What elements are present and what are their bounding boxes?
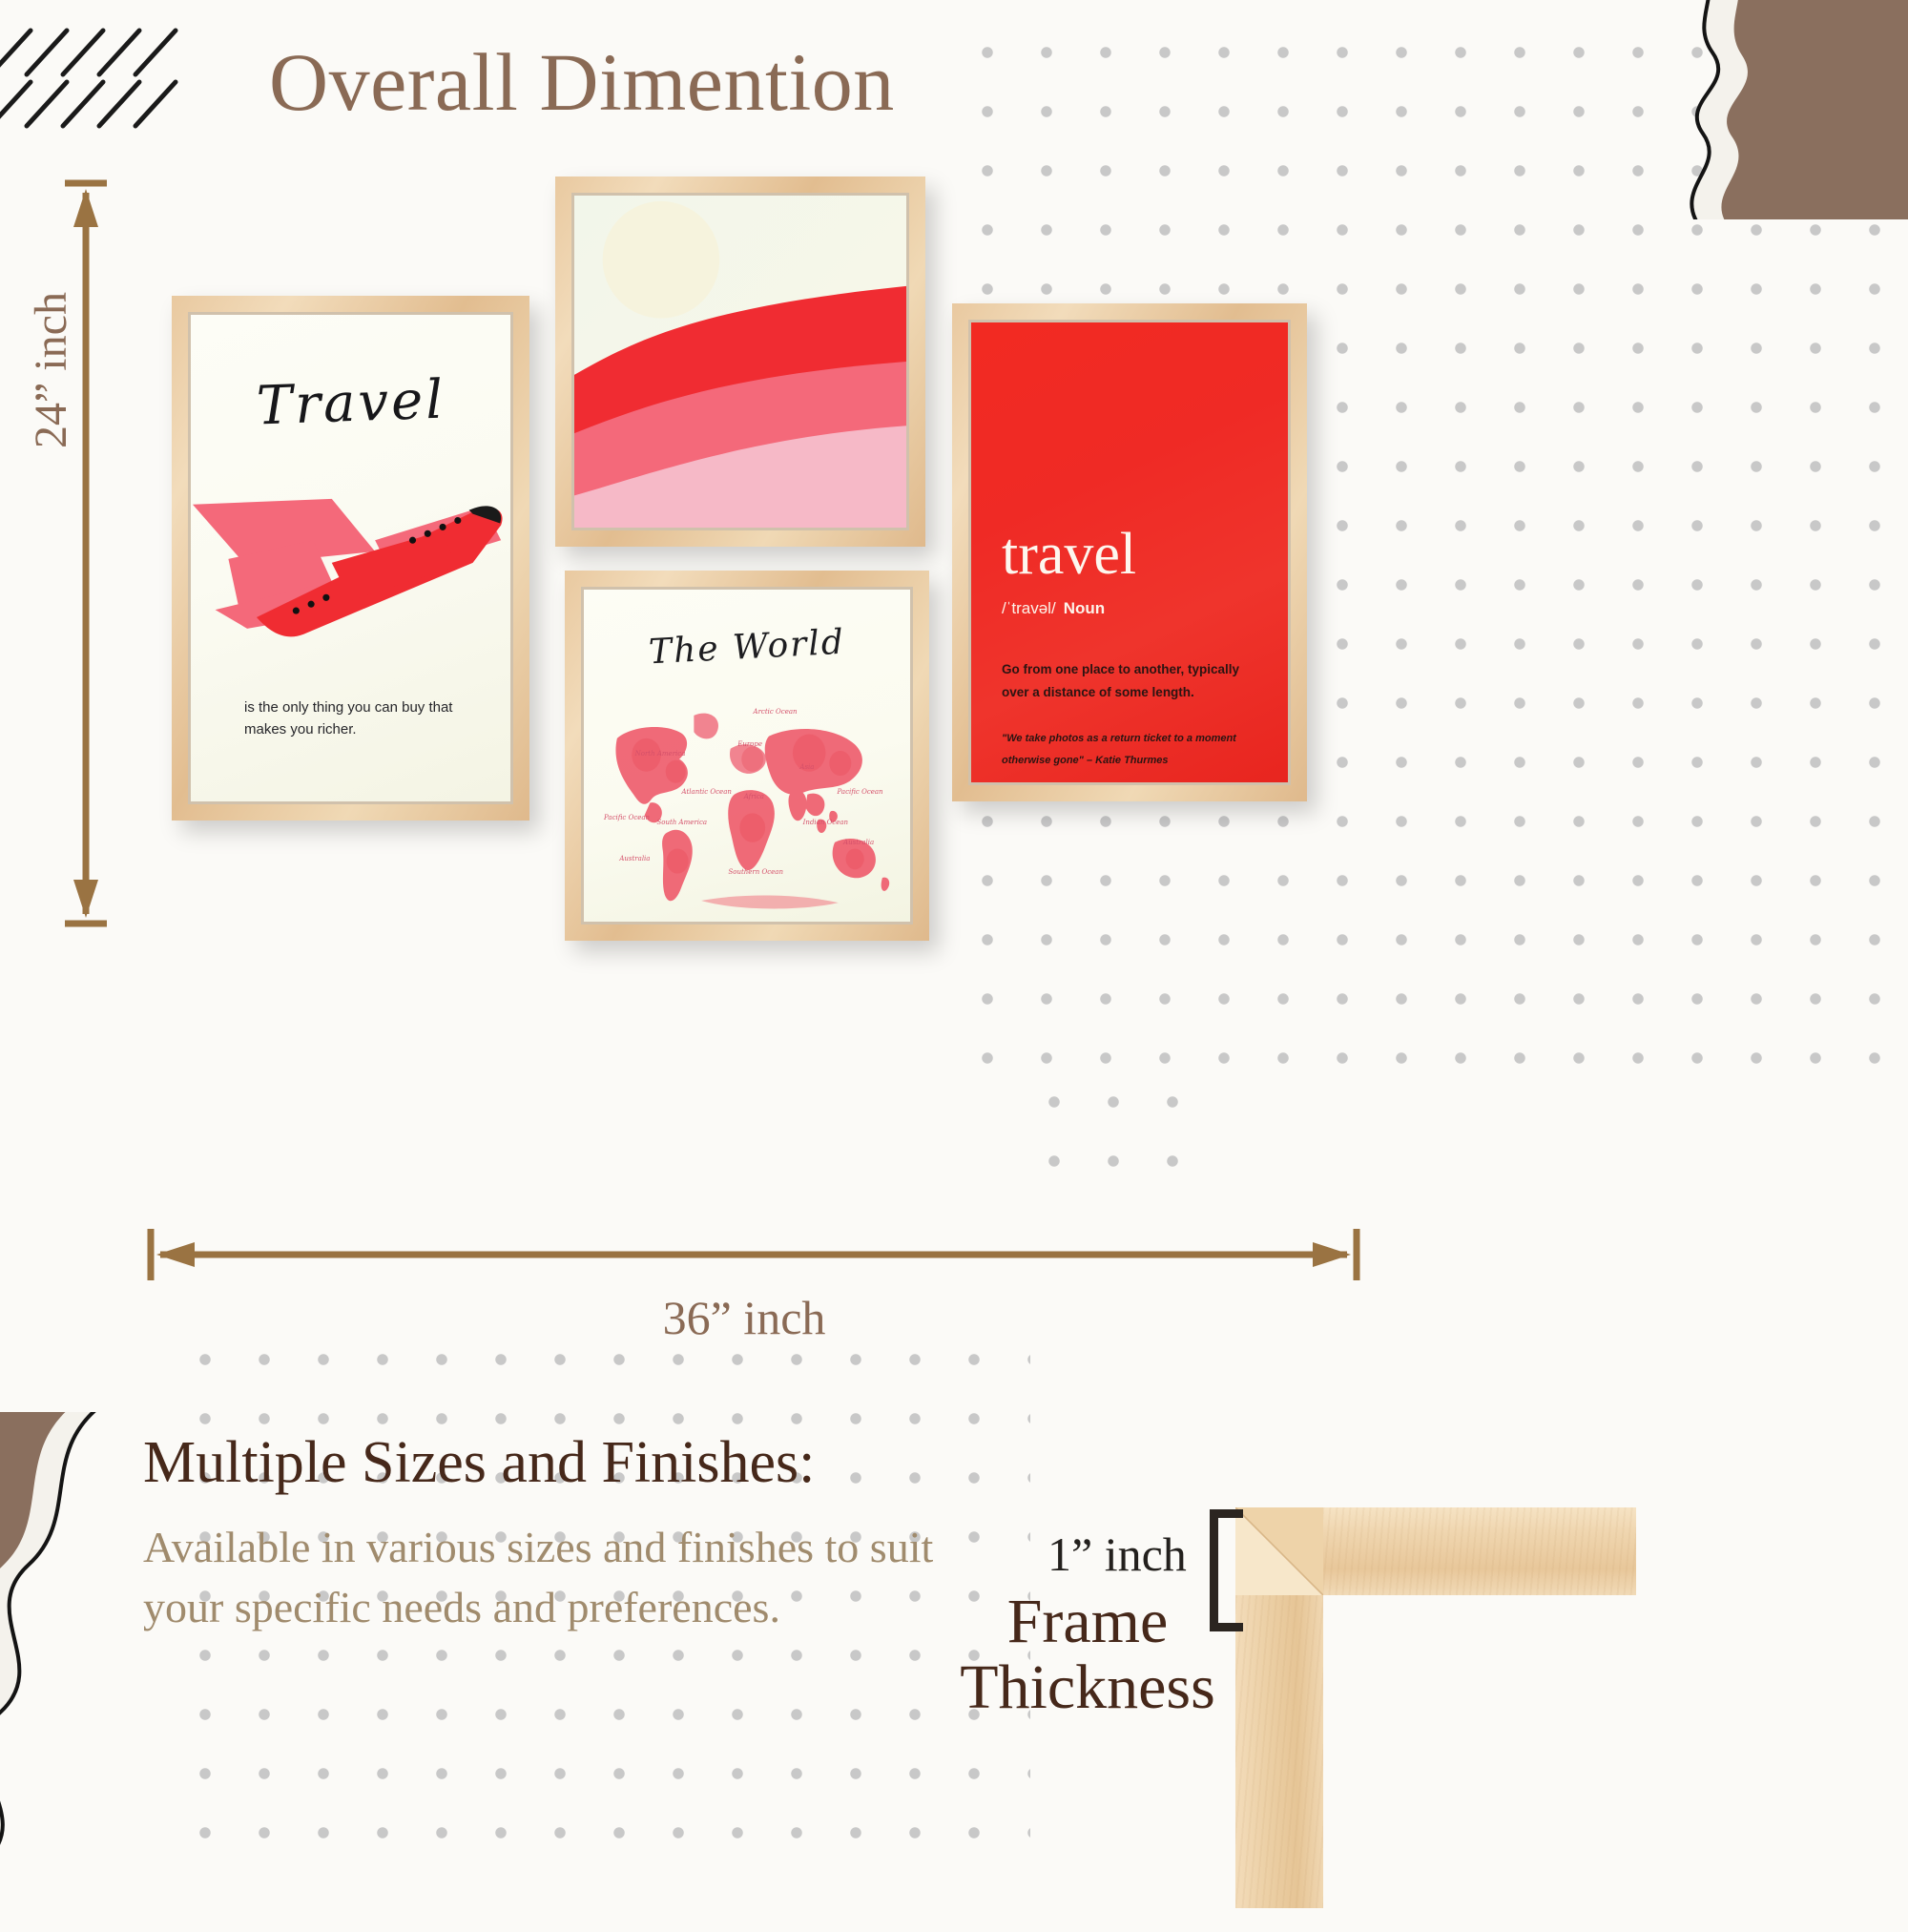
map-label: North America <box>635 750 686 758</box>
frame-mat: travel /ˈtravəl/Noun Go from one place t… <box>968 320 1291 785</box>
travel-script-title: Travel <box>255 369 446 438</box>
map-label: Africa <box>744 793 764 800</box>
map-label: Indian Ocean <box>803 819 848 826</box>
frame-miter-corner <box>1235 1507 1323 1595</box>
page-title: Overall Dimention <box>269 34 895 130</box>
airplane-illustration: Travel <box>191 315 510 801</box>
thickness-title-line-2: Thickness <box>944 1654 1231 1720</box>
map-label: Asia <box>799 763 814 771</box>
horizontal-dimension-arrow <box>143 1221 1364 1288</box>
frame-mat <box>571 193 909 530</box>
quote-line-2: otherwise gone" – Katie Thurmes <box>1002 750 1257 772</box>
map-label: Atlantic Ocean <box>682 788 732 796</box>
thickness-title-line-1: Frame <box>944 1589 1231 1654</box>
frame-mat: Travel <box>188 312 513 804</box>
poster-frame-travel-plane[interactable]: Travel <box>172 296 529 821</box>
vertical-dimension-arrow <box>57 172 114 935</box>
poster-frame-world-map[interactable]: The World <box>565 571 929 941</box>
definition-phonetic-line: /ˈtravəl/Noun <box>1002 599 1257 618</box>
sizes-body: Available in various sizes and finishes … <box>143 1517 983 1638</box>
map-label: Pacific Ocean <box>838 788 883 796</box>
definition-text: Go from one place to another, typically … <box>1002 658 1257 703</box>
airplane-icon <box>191 448 510 658</box>
height-dimension-label: 24” inch <box>25 292 77 448</box>
map-label: Southern Ocean <box>728 868 783 876</box>
thickness-measure-label: 1” inch <box>1047 1527 1187 1582</box>
definition-quote: "We take photos as a return ticket to a … <box>1002 728 1257 772</box>
frame-thickness-title: Frame Thickness <box>944 1589 1231 1721</box>
travel-caption: is the only thing you can buy that makes… <box>244 696 483 741</box>
travel-definition-poster: travel /ˈtravəl/Noun Go from one place t… <box>971 322 1288 782</box>
definition-part-of-speech: Noun <box>1064 599 1105 617</box>
frame-mat: The World <box>581 587 913 924</box>
map-label: Pacific Ocean <box>604 814 650 821</box>
abstract-red-waves <box>574 196 906 528</box>
definition-phonetic: /ˈtravəl/ <box>1002 599 1056 617</box>
world-map-graphic: Arctic Ocean North America Europe Asia A… <box>591 695 902 924</box>
brown-blob-top-right <box>1660 0 1908 219</box>
map-label: Arctic Ocean <box>754 708 798 716</box>
map-label: Europe <box>737 740 762 748</box>
definition-word: travel <box>1002 525 1257 584</box>
quote-line-1: "We take photos as a return ticket to a … <box>1002 728 1257 750</box>
dot-grid-bottom-right <box>1021 1069 1212 1202</box>
frame-left-rail <box>1235 1595 1323 1908</box>
map-label: South America <box>656 819 707 826</box>
map-label: Australia <box>843 839 874 846</box>
watercolor-world-map: The World <box>584 590 910 922</box>
sizes-heading: Multiple Sizes and Finishes: <box>143 1429 815 1497</box>
poster-frame-travel-definition[interactable]: travel /ˈtravəl/Noun Go from one place t… <box>952 303 1307 801</box>
map-label: Australia <box>619 855 650 862</box>
world-script-title: The World <box>648 623 846 673</box>
diagonal-stripes-decoration <box>0 19 219 134</box>
poster-frame-abstract-waves[interactable] <box>555 177 925 547</box>
wood-frame-corner-photo <box>1235 1507 1636 1908</box>
width-dimension-label: 36” inch <box>0 1290 1488 1345</box>
